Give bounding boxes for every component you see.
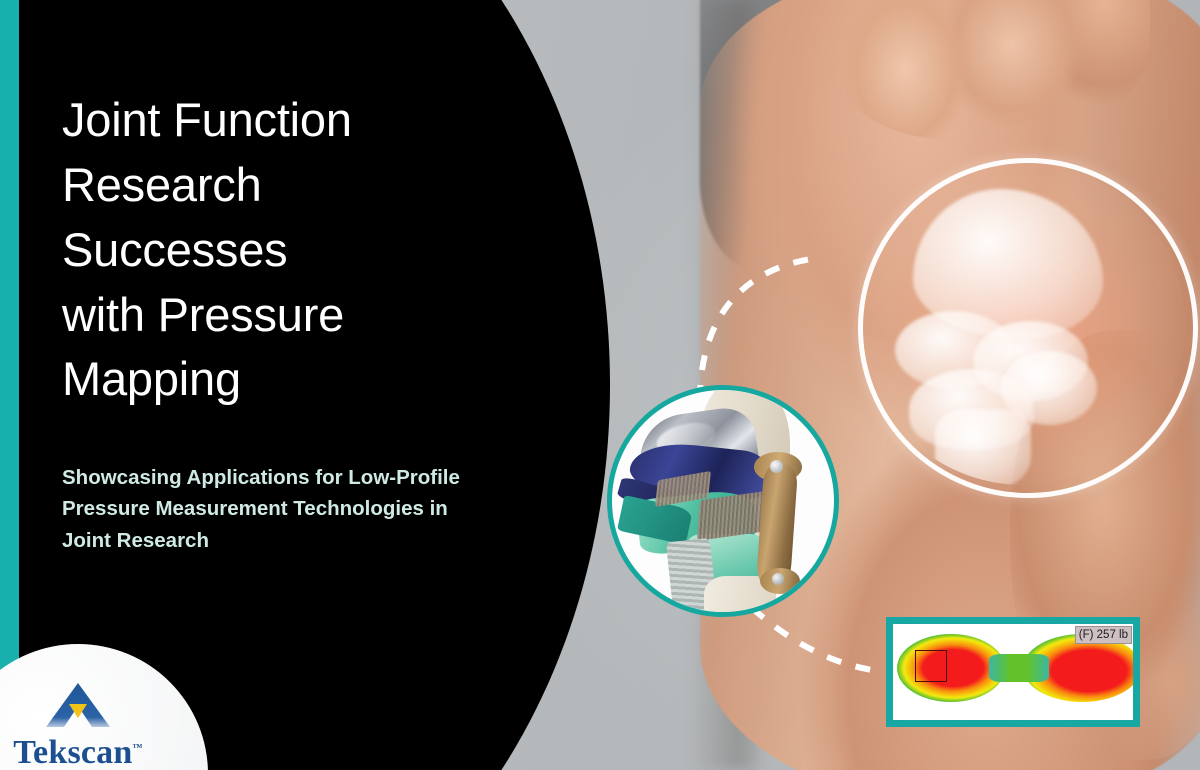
trademark-symbol: ™ [133,743,143,754]
knee-joint-ring-icon [858,158,1198,498]
knee-implant-sensor-photo [607,385,839,617]
tekscan-triangle-logo-icon [45,682,111,728]
page-title: Joint Function Research Successes with P… [62,88,582,412]
pressure-map-thumbnail: (F) 257 lb [886,617,1140,727]
force-readout-label: (F) 257 lb [1075,626,1132,644]
teal-accent-bar [0,0,19,770]
brand-name: Tekscan [13,734,132,770]
poster-canvas: (F) 257 lb Joint Function Research Succe… [0,0,1200,770]
linkage-pin-bottom-icon [772,573,784,585]
linkage-pin-top-icon [770,460,783,473]
headline-block: Joint Function Research Successes with P… [62,88,582,556]
implant-illustration [612,390,834,612]
brand-wordmark: Tekscan™ [13,734,142,770]
pressure-bridge-icon [989,654,1049,682]
pressure-map-canvas: (F) 257 lb [893,624,1133,720]
page-subtitle: Showcasing Applications for Low-Profile … [62,462,582,555]
pressure-roi-box[interactable] [915,650,947,682]
